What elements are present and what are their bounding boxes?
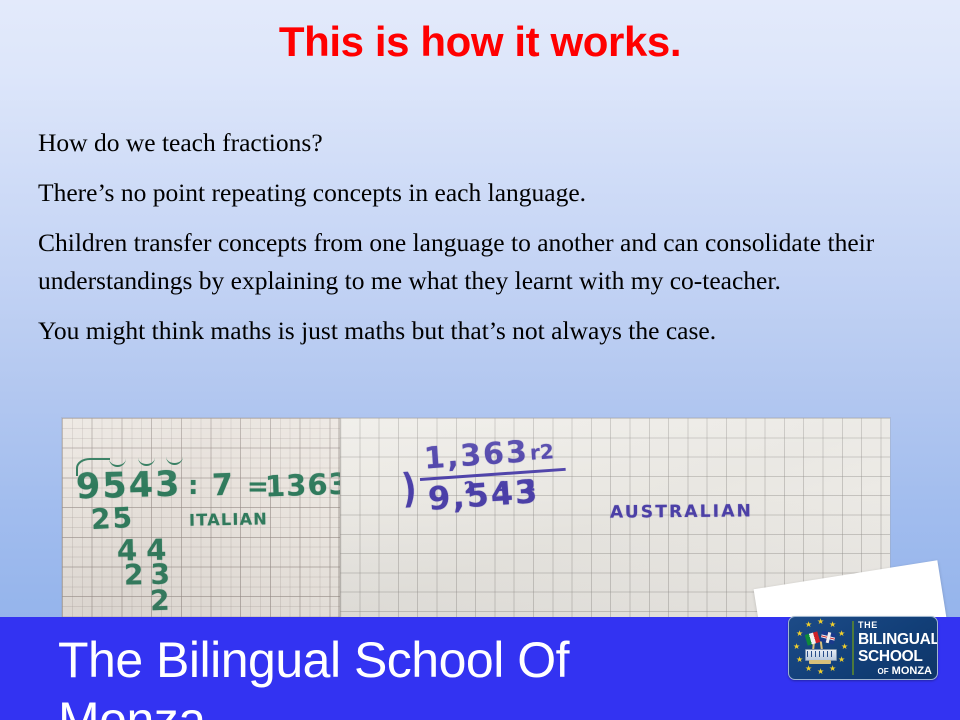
italian-remainder-step-4: 2 [149, 584, 170, 617]
uk-flag-red-horizontal [821, 635, 835, 640]
logo-of-monza: OF MONZA [858, 665, 932, 678]
logo-bilingual: BILINGUAL [858, 631, 936, 648]
italian-quotient: 1363 [264, 467, 340, 504]
logo-the: THE [858, 620, 936, 631]
italian-digit-arc-icon-2 [138, 455, 155, 466]
uk-flag-icon [820, 630, 836, 644]
logo-of: OF [878, 667, 889, 676]
australian-method-label: AUSTRALIAN [610, 501, 753, 522]
school-logo: ★ ★ ★ ★ ★ ★ ★ ★ ★ ★ ★ ★ THE BI [788, 616, 938, 680]
body-paragraph-4: You might think maths is just maths but … [38, 312, 916, 350]
footer-school-name-line2: Monza [58, 690, 758, 720]
australian-division-bracket-icon: ) [400, 466, 418, 513]
italian-flag-icon [805, 631, 821, 645]
logo-monza-word: MONZA [892, 665, 932, 677]
logo-wordmark: THE BILINGUAL SCHOOL OF MONZA [858, 620, 936, 678]
slide-canvas: This is how it works. How do we teach fr… [0, 0, 960, 720]
italian-division-colon: : [188, 471, 198, 501]
notebook-page-italian: 9543 : 7 = 1363 25 44 23 2 ITALIAN [62, 418, 340, 617]
body-paragraph-2: There’s no point repeating concepts in e… [38, 174, 916, 212]
slide-body-text: How do we teach fractions? There’s no po… [38, 124, 916, 350]
italian-digit-arc-icon-3 [166, 454, 183, 465]
body-paragraph-3: Children transfer concepts from one lang… [38, 224, 916, 300]
notebook-page-seam [338, 418, 342, 617]
australian-remainder: r2 [529, 439, 554, 465]
book-text-lines-icon [807, 651, 833, 657]
logo-school: SCHOOL [858, 648, 936, 665]
australian-quotient: 1,363 [423, 434, 530, 476]
body-paragraph-1: How do we teach fractions? [38, 124, 916, 162]
australian-carry-2: 4 [495, 477, 508, 497]
footer-school-name: The Bilingual School Of Monza [58, 630, 758, 720]
logo-divider [852, 621, 854, 675]
australian-carry-1: 2 [463, 477, 476, 497]
footer-school-name-line1: The Bilingual School Of [58, 630, 758, 690]
italian-division-bracket-icon [76, 458, 110, 476]
slide-title: This is how it works. [0, 18, 960, 66]
logo-base-bar-icon [809, 660, 831, 664]
italian-method-label: ITALIAN [189, 509, 268, 529]
australian-carry-3: 2 [523, 475, 536, 495]
italian-remainder-step-1: 25 [90, 501, 135, 536]
uk-flag-red-vertical [826, 632, 830, 643]
logo-emblem-icon: ★ ★ ★ ★ ★ ★ ★ ★ ★ ★ ★ ★ [792, 619, 850, 677]
italian-divisor: 7 [211, 468, 233, 504]
